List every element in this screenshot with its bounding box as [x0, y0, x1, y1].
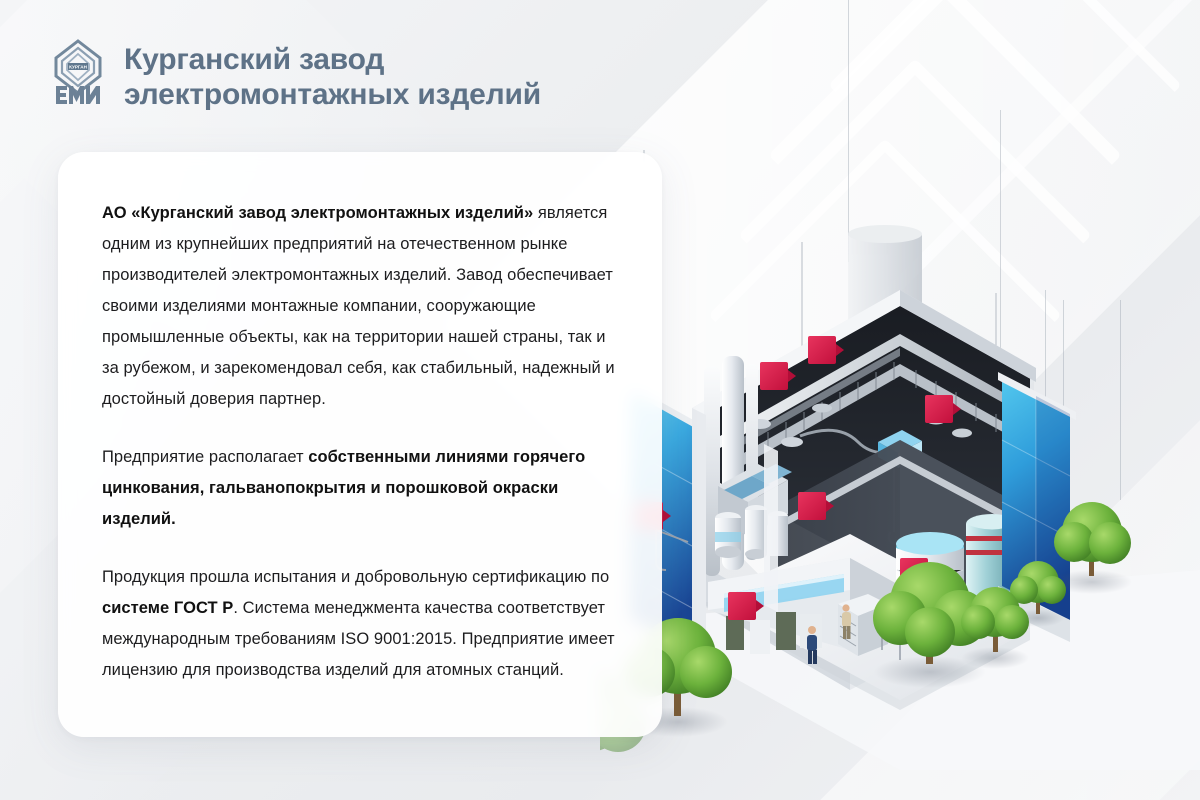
presentation-slide: КУРГАН Курганский завод электромонтажных…	[0, 0, 1200, 800]
logo-inner-text: КУРГАН	[69, 65, 87, 70]
company-legal-name: АО «Курганский завод электромонтажных из…	[102, 204, 533, 222]
production-lines-prefix: Предприятие располагает	[102, 448, 308, 466]
paragraph-intro-text: является одним из крупнейших предприятий…	[102, 204, 615, 408]
logo-letters	[56, 86, 100, 104]
industrial-facility-illustration	[600, 150, 1200, 770]
gost-highlight: системе ГОСТ Р	[102, 599, 233, 617]
page-title: Курганский завод электромонтажных издели…	[124, 38, 541, 113]
paragraph-certification: Продукция прошла испытания и добровольну…	[102, 562, 618, 686]
page-header: КУРГАН Курганский завод электромонтажных…	[50, 38, 541, 113]
paragraph-production-lines: Предприятие располагает собственными лин…	[102, 442, 618, 535]
about-company-card: АО «Курганский завод электромонтажных из…	[58, 152, 662, 737]
paragraph-intro: АО «Курганский завод электромонтажных из…	[102, 198, 618, 415]
company-logo: КУРГАН	[50, 38, 106, 108]
certification-prefix: Продукция прошла испытания и добровольну…	[102, 568, 609, 586]
